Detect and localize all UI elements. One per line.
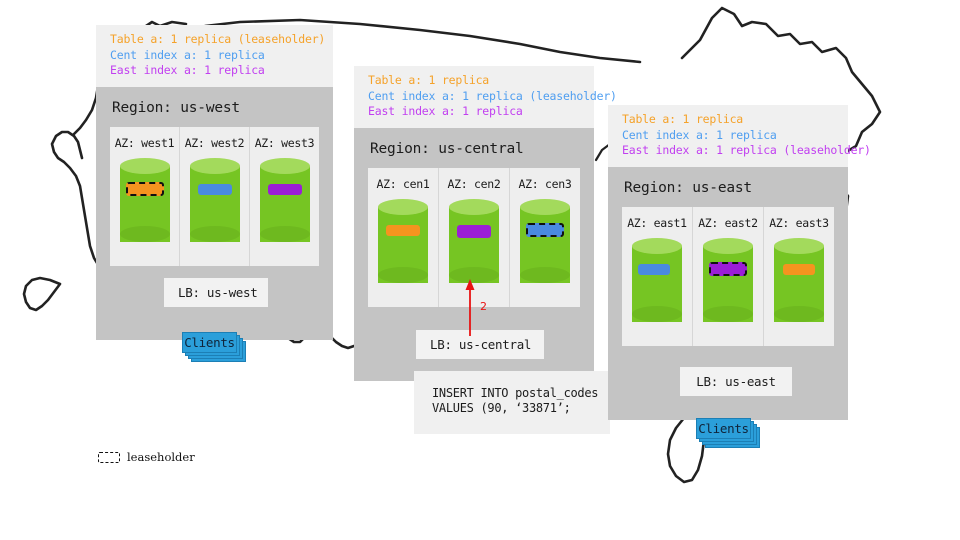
az-label-cen2: AZ: cen2: [439, 177, 509, 191]
cylinder-top: [520, 199, 570, 215]
cylinder-top: [774, 238, 824, 254]
cylinder-bottom: [703, 306, 753, 322]
node-cylinder-east2[interactable]: [703, 238, 753, 330]
sql-statement-us-central: INSERT INTO postal_codes VALUES (90, ‘33…: [414, 371, 610, 434]
replica-band-leaseholder: [709, 262, 747, 276]
cylinder-top: [632, 238, 682, 254]
header-line-east-index-a: East index a: 1 replica: [110, 63, 319, 79]
cylinder-top: [190, 158, 240, 174]
node-cylinder-cen1[interactable]: [378, 199, 428, 291]
cylinder-top: [260, 158, 310, 174]
header-line-cent-index-a: Cent index a: 1 replica (leaseholder): [368, 89, 580, 105]
cylinder-bottom: [520, 267, 570, 283]
replica-band: [457, 225, 491, 238]
region-body-us-east: Region: us-east AZ: east1 AZ: east2: [608, 167, 848, 420]
region-body-us-west: Region: us-west AZ: west1 AZ: west2: [96, 87, 333, 340]
node-cylinder-east3[interactable]: [774, 238, 824, 330]
az-cell-cen1[interactable]: AZ: cen1: [368, 168, 438, 307]
az-label-west2: AZ: west2: [180, 136, 249, 150]
az-strip-us-west: AZ: west1 AZ: west2 AZ: west3: [110, 127, 319, 266]
region-panel-us-east: Table a: 1 replica Cent index a: 1 repli…: [608, 105, 848, 420]
region-title-us-central: Region: us-central: [354, 128, 594, 168]
node-cylinder-west2[interactable]: [190, 158, 240, 250]
cylinder-top: [703, 238, 753, 254]
cylinder-top: [449, 199, 499, 215]
header-line-table-a: Table a: 1 replica: [368, 73, 580, 89]
request-arrow-icon: [456, 276, 496, 338]
az-cell-east1[interactable]: AZ: east1: [622, 207, 692, 346]
region-header-us-central: Table a: 1 replica Cent index a: 1 repli…: [354, 66, 594, 128]
az-cell-west2[interactable]: AZ: west2: [179, 127, 249, 266]
cylinder-bottom: [260, 226, 310, 242]
replica-band-leaseholder: [526, 223, 564, 237]
cylinder-bottom: [378, 267, 428, 283]
az-label-east3: AZ: east3: [764, 216, 834, 230]
az-label-cen3: AZ: cen3: [510, 177, 580, 191]
replica-band: [386, 225, 420, 236]
clients-button-us-east[interactable]: Clients: [696, 418, 751, 439]
header-line-cent-index-a: Cent index a: 1 replica: [110, 48, 319, 64]
arrow-step-number: 2: [480, 300, 487, 313]
cylinder-bottom: [190, 226, 240, 242]
node-cylinder-west1[interactable]: [120, 158, 170, 250]
region-panel-us-central: Table a: 1 replica Cent index a: 1 repli…: [354, 66, 594, 381]
az-label-west1: AZ: west1: [110, 136, 179, 150]
az-cell-west3[interactable]: AZ: west3: [249, 127, 319, 266]
header-line-table-a: Table a: 1 replica (leaseholder): [110, 32, 319, 48]
legend: leaseholder: [98, 450, 195, 464]
region-title-us-east: Region: us-east: [608, 167, 848, 207]
node-cylinder-west3[interactable]: [260, 158, 310, 250]
header-line-east-index-a: East index a: 1 replica (leaseholder): [622, 143, 834, 159]
load-balancer-us-east[interactable]: LB: us-east: [680, 367, 792, 396]
header-line-table-a: Table a: 1 replica: [622, 112, 834, 128]
header-line-cent-index-a: Cent index a: 1 replica: [622, 128, 834, 144]
replica-band: [198, 184, 232, 195]
region-panel-us-west: Table a: 1 replica (leaseholder) Cent in…: [96, 25, 333, 340]
replica-band: [783, 264, 815, 275]
az-cell-east2[interactable]: AZ: east2: [692, 207, 763, 346]
az-strip-us-east: AZ: east1 AZ: east2 AZ: east3: [622, 207, 834, 346]
region-header-us-east: Table a: 1 replica Cent index a: 1 repli…: [608, 105, 848, 167]
header-line-east-index-a: East index a: 1 replica: [368, 104, 580, 120]
load-balancer-us-west[interactable]: LB: us-west: [164, 278, 268, 307]
az-cell-cen3[interactable]: AZ: cen3: [509, 168, 580, 307]
region-header-us-west: Table a: 1 replica (leaseholder) Cent in…: [96, 25, 333, 87]
leaseholder-swatch-icon: [98, 452, 120, 463]
clients-stack-us-west[interactable]: Clients: [182, 332, 246, 362]
node-cylinder-cen3[interactable]: [520, 199, 570, 291]
az-label-east1: AZ: east1: [622, 216, 692, 230]
cylinder-top: [120, 158, 170, 174]
region-body-us-central: Region: us-central AZ: cen1 AZ: cen2: [354, 128, 594, 381]
cylinder-bottom: [774, 306, 824, 322]
region-title-us-west: Region: us-west: [96, 87, 333, 127]
az-label-east2: AZ: east2: [693, 216, 763, 230]
cylinder-bottom: [632, 306, 682, 322]
az-cell-west1[interactable]: AZ: west1: [110, 127, 179, 266]
request-arrow-group: 2: [456, 276, 496, 338]
legend-label-leaseholder: leaseholder: [127, 450, 195, 464]
az-cell-east3[interactable]: AZ: east3: [763, 207, 834, 346]
cylinder-bottom: [120, 226, 170, 242]
replica-band: [268, 184, 302, 195]
replica-band: [638, 264, 670, 275]
az-label-west3: AZ: west3: [250, 136, 319, 150]
node-cylinder-east1[interactable]: [632, 238, 682, 330]
clients-stack-us-east[interactable]: Clients: [696, 418, 760, 448]
clients-button-us-west[interactable]: Clients: [182, 332, 237, 353]
az-label-cen1: AZ: cen1: [368, 177, 438, 191]
replica-band-leaseholder: [126, 182, 164, 196]
cylinder-top: [378, 199, 428, 215]
